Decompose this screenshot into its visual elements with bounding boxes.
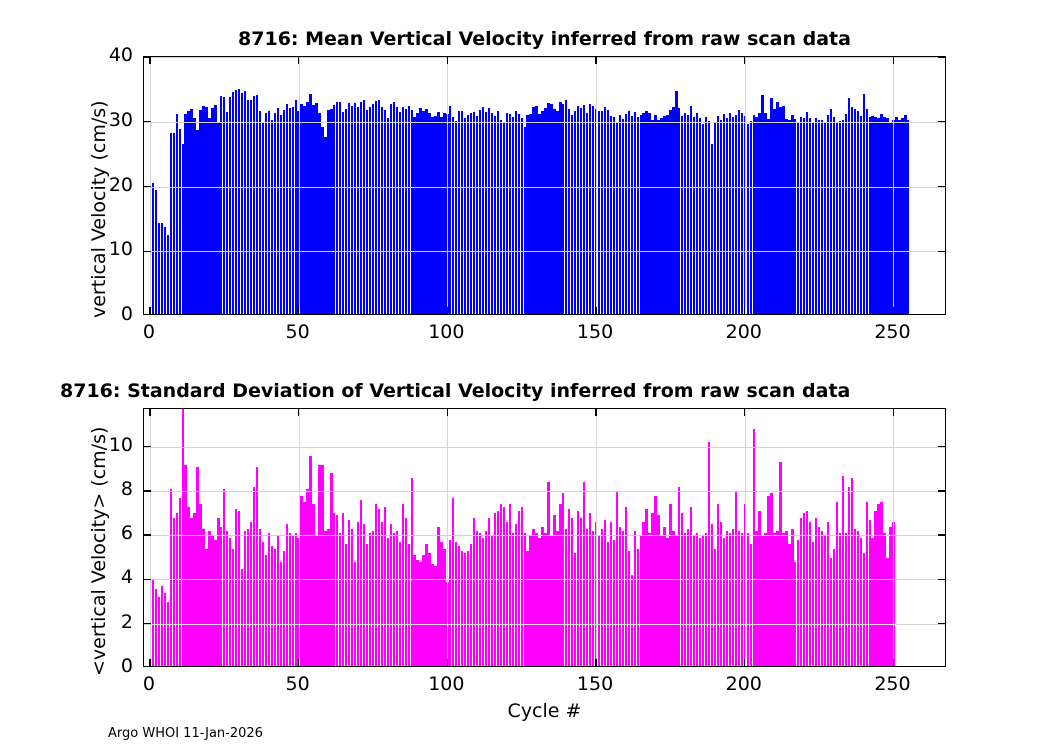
bar <box>642 113 644 314</box>
bar <box>184 465 186 666</box>
bar <box>303 106 305 314</box>
bar <box>199 504 201 666</box>
bar <box>547 103 549 314</box>
bar <box>806 112 808 314</box>
bar <box>211 108 213 314</box>
bar <box>280 562 282 666</box>
bar <box>812 122 814 314</box>
bar <box>589 104 591 314</box>
bar <box>622 531 624 666</box>
bar <box>779 462 781 666</box>
bar <box>256 95 258 314</box>
bar <box>723 114 725 314</box>
y-tickmark-right <box>938 446 945 447</box>
bar <box>613 117 615 314</box>
bar <box>500 504 502 666</box>
bar <box>324 137 326 314</box>
bar <box>895 117 897 314</box>
bar <box>315 103 317 314</box>
bar <box>461 111 463 314</box>
bar <box>577 106 579 314</box>
bar <box>437 112 439 314</box>
x-tickmark <box>447 659 448 666</box>
bar <box>369 533 371 666</box>
bar <box>889 122 891 314</box>
bar <box>434 116 436 314</box>
bar <box>205 549 207 666</box>
bar <box>306 102 308 314</box>
bar <box>696 533 698 666</box>
bar <box>586 529 588 666</box>
bar <box>223 489 225 666</box>
bar <box>396 107 398 314</box>
x-tickmark <box>149 659 150 666</box>
bar <box>354 103 356 314</box>
x-tick-label: 150 <box>555 321 635 343</box>
bar <box>803 118 805 314</box>
bar <box>333 513 335 666</box>
bar <box>419 562 421 666</box>
bar <box>666 115 668 314</box>
bar <box>232 549 234 666</box>
bar <box>408 106 410 314</box>
bar <box>830 558 832 666</box>
bar <box>550 104 552 314</box>
bar <box>761 95 763 315</box>
bar <box>750 121 752 314</box>
bar <box>306 489 308 666</box>
x-tick-label: 0 <box>109 321 189 343</box>
bar <box>405 109 407 314</box>
bar <box>405 518 407 666</box>
x-tickmark <box>595 307 596 314</box>
bar <box>702 124 704 314</box>
bar <box>238 89 240 314</box>
bar <box>607 110 609 314</box>
y-tick-label: 4 <box>85 566 133 588</box>
bar <box>764 533 766 666</box>
bar <box>637 549 639 666</box>
bar <box>265 555 267 666</box>
bar <box>776 531 778 666</box>
bar <box>648 533 650 666</box>
x-tickmark-top <box>744 409 745 416</box>
bar <box>842 120 844 314</box>
gridline-vertical <box>299 57 300 314</box>
bar <box>515 524 517 666</box>
bar <box>666 538 668 666</box>
bar <box>170 133 172 314</box>
y-tick-label: 20 <box>85 174 133 196</box>
bar <box>182 409 184 666</box>
bar <box>173 518 175 666</box>
bar <box>521 507 523 666</box>
bar <box>182 144 184 314</box>
bar <box>202 529 204 666</box>
y-tickmark-right <box>938 121 945 122</box>
bar <box>729 533 731 666</box>
x-tickmark <box>298 307 299 314</box>
bar <box>167 235 169 314</box>
bar <box>473 112 475 314</box>
bar <box>443 113 445 314</box>
bar <box>176 114 178 314</box>
bar <box>387 538 389 666</box>
bar <box>565 529 567 666</box>
bar <box>393 533 395 666</box>
bar <box>776 102 778 314</box>
bar <box>384 507 386 666</box>
bar <box>413 117 415 314</box>
bar <box>217 518 219 666</box>
bar <box>880 114 882 314</box>
bar <box>431 117 433 314</box>
bar <box>592 531 594 666</box>
bar <box>634 112 636 314</box>
bar <box>860 538 862 666</box>
bar <box>419 108 421 314</box>
bar <box>877 504 879 666</box>
bar <box>699 118 701 314</box>
bar <box>613 540 615 666</box>
y-tickmark <box>144 121 151 122</box>
bar <box>568 509 570 666</box>
bar <box>842 476 844 666</box>
bar <box>354 562 356 666</box>
bar <box>292 535 294 666</box>
bar <box>717 504 719 666</box>
bar <box>797 540 799 666</box>
bar <box>839 533 841 666</box>
bar <box>152 183 154 314</box>
bar <box>642 522 644 666</box>
bar <box>324 531 326 666</box>
x-tick-label: 100 <box>406 673 486 695</box>
bar <box>402 504 404 666</box>
bar <box>678 487 680 666</box>
bar <box>176 513 178 666</box>
bar <box>711 144 713 314</box>
x-tick-label: 50 <box>258 673 338 695</box>
bar <box>580 518 582 666</box>
bar <box>880 502 882 666</box>
bar <box>244 531 246 666</box>
bar <box>268 533 270 666</box>
gridline-vertical <box>596 57 597 314</box>
bar <box>369 107 371 314</box>
y-tickmark-right <box>938 534 945 535</box>
bar <box>312 105 314 314</box>
chart-2-y-axis-label: <vertical Velocity> (cm/s) <box>88 427 110 676</box>
bar <box>476 116 478 314</box>
bar <box>809 118 811 314</box>
bar <box>824 535 826 666</box>
bar <box>345 109 347 314</box>
x-tickmark-top <box>595 409 596 416</box>
bar <box>773 109 775 314</box>
bar <box>747 124 749 314</box>
bar <box>220 96 222 314</box>
bar <box>333 105 335 314</box>
x-tickmark <box>893 307 894 314</box>
chart-1-bar-series <box>144 57 945 314</box>
chart-1-y-axis-label: vertical Velocity (cm/s) <box>88 100 110 318</box>
bar <box>753 429 755 666</box>
bar <box>202 106 204 314</box>
bar <box>348 103 350 314</box>
bar <box>158 597 160 666</box>
bar <box>491 113 493 314</box>
x-tickmark-top <box>893 409 894 416</box>
bar <box>767 119 769 314</box>
bar <box>187 111 189 314</box>
bar <box>390 524 392 666</box>
bar <box>586 113 588 314</box>
bar <box>422 111 424 314</box>
bar <box>283 551 285 666</box>
bar <box>336 515 338 666</box>
bar <box>372 104 374 314</box>
bar <box>628 551 630 666</box>
bar <box>363 524 365 666</box>
bar <box>901 118 903 314</box>
x-tickmark <box>744 307 745 314</box>
x-tick-label: 200 <box>704 673 784 695</box>
bar <box>592 106 594 314</box>
bar <box>164 593 166 666</box>
bar <box>524 533 526 666</box>
bar <box>883 533 885 666</box>
bar <box>187 507 189 666</box>
bar <box>871 538 873 666</box>
gridline-vertical <box>745 409 746 666</box>
bar <box>645 509 647 666</box>
bar <box>425 544 427 666</box>
bar <box>779 107 781 314</box>
bar <box>720 120 722 314</box>
bar <box>300 496 302 666</box>
bar <box>262 122 264 314</box>
bar <box>625 507 627 666</box>
x-tick-label: 250 <box>852 321 932 343</box>
bar <box>634 531 636 666</box>
bar <box>223 97 225 314</box>
x-tick-label: 100 <box>406 321 486 343</box>
chart-2-title: 8716: Standard Deviation of Vertical Vel… <box>60 380 1046 402</box>
bar <box>803 513 805 666</box>
bar <box>526 115 528 314</box>
bar <box>494 116 496 314</box>
bar <box>857 531 859 666</box>
bar <box>467 551 469 666</box>
bar <box>827 115 829 314</box>
bar <box>785 119 787 314</box>
bar <box>651 513 653 666</box>
bar <box>860 116 862 314</box>
x-tick-label: 250 <box>852 673 932 695</box>
bar <box>529 114 531 314</box>
bar <box>455 121 457 314</box>
gridline-vertical <box>150 409 151 666</box>
bar <box>378 509 380 666</box>
bar <box>360 500 362 666</box>
bar <box>544 533 546 666</box>
gridline-vertical <box>893 409 894 666</box>
gridline-horizontal <box>144 187 945 188</box>
bar <box>455 542 457 666</box>
bar <box>428 553 430 666</box>
bar <box>690 106 692 314</box>
bar <box>640 115 642 314</box>
y-tickmark <box>144 534 151 535</box>
bar <box>726 118 728 314</box>
bar <box>235 90 237 314</box>
bar <box>690 507 692 666</box>
bar <box>402 107 404 314</box>
gridline-vertical <box>596 409 597 666</box>
x-tick-label: 0 <box>109 673 189 695</box>
bar <box>738 531 740 666</box>
bar <box>378 100 380 314</box>
bar <box>753 115 755 314</box>
bar <box>854 529 856 666</box>
bar <box>449 540 451 666</box>
bar <box>482 107 484 314</box>
bar <box>553 515 555 666</box>
bar <box>693 535 695 666</box>
bar <box>559 102 561 314</box>
bar <box>375 101 377 314</box>
bar <box>425 109 427 314</box>
bar <box>538 114 540 314</box>
gridline-horizontal <box>144 491 945 492</box>
bar <box>550 535 552 666</box>
bar <box>390 104 392 314</box>
bar <box>541 527 543 666</box>
x-tickmark-top <box>447 409 448 416</box>
bar <box>809 522 811 666</box>
x-tickmark <box>595 659 596 666</box>
bar <box>506 113 508 314</box>
bar <box>794 562 796 666</box>
bar <box>526 551 528 666</box>
bar <box>295 100 297 314</box>
gridline-horizontal <box>144 57 945 58</box>
bar <box>562 104 564 314</box>
bar <box>720 522 722 666</box>
y-tickmark <box>144 623 151 624</box>
y-tick-label: 6 <box>85 522 133 544</box>
bar <box>601 111 603 314</box>
bar <box>250 522 252 666</box>
bar <box>589 513 591 666</box>
bar <box>247 100 249 314</box>
bar <box>357 107 359 314</box>
bar <box>538 538 540 666</box>
y-tickmark-right <box>938 56 945 57</box>
bar <box>654 115 656 314</box>
bar <box>663 527 665 666</box>
bar <box>869 117 871 314</box>
bar <box>845 114 847 314</box>
bar <box>669 504 671 666</box>
bar <box>247 529 249 666</box>
bar <box>336 102 338 314</box>
bar <box>830 109 832 314</box>
bar <box>583 482 585 666</box>
bar <box>479 533 481 666</box>
bar <box>485 112 487 314</box>
bar <box>738 110 740 314</box>
bar <box>360 102 362 314</box>
bar <box>535 106 537 314</box>
bar <box>241 93 243 314</box>
bar <box>271 546 273 666</box>
bar <box>750 544 752 666</box>
bar <box>637 117 639 314</box>
bar <box>351 529 353 666</box>
bar <box>461 551 463 666</box>
bar <box>535 533 537 666</box>
bar <box>524 127 526 314</box>
bar <box>628 111 630 314</box>
bar <box>541 111 543 314</box>
bar <box>321 465 323 666</box>
bar <box>764 113 766 314</box>
bar <box>610 116 612 314</box>
bar <box>351 106 353 314</box>
bar <box>396 531 398 666</box>
bar <box>699 538 701 666</box>
bar <box>411 110 413 314</box>
bar <box>782 106 784 314</box>
gridline-horizontal <box>144 122 945 123</box>
bar <box>170 489 172 666</box>
bar <box>791 115 793 314</box>
bar <box>631 575 633 666</box>
bar <box>854 109 856 314</box>
bar <box>580 108 582 314</box>
bar <box>705 117 707 314</box>
bar <box>464 553 466 666</box>
bar <box>366 110 368 314</box>
bar <box>161 586 163 666</box>
x-tick-label: 200 <box>704 321 784 343</box>
bar <box>286 524 288 666</box>
y-tick-label: 8 <box>85 478 133 500</box>
gridline-horizontal <box>144 579 945 580</box>
bar <box>229 538 231 666</box>
y-tickmark <box>144 446 151 447</box>
bar <box>788 120 790 314</box>
bar <box>883 117 885 314</box>
bar <box>622 119 624 314</box>
chart-1-plot-area <box>143 56 946 315</box>
bar <box>553 109 555 314</box>
bar <box>851 478 853 666</box>
bar <box>318 113 320 314</box>
bar <box>532 529 534 666</box>
bar <box>309 94 311 314</box>
bar <box>574 111 576 314</box>
bar <box>330 109 332 314</box>
bar <box>785 531 787 666</box>
y-tickmark-right <box>938 186 945 187</box>
bar <box>277 535 279 666</box>
bar <box>229 97 231 314</box>
bar <box>604 107 606 314</box>
bar <box>556 111 558 314</box>
